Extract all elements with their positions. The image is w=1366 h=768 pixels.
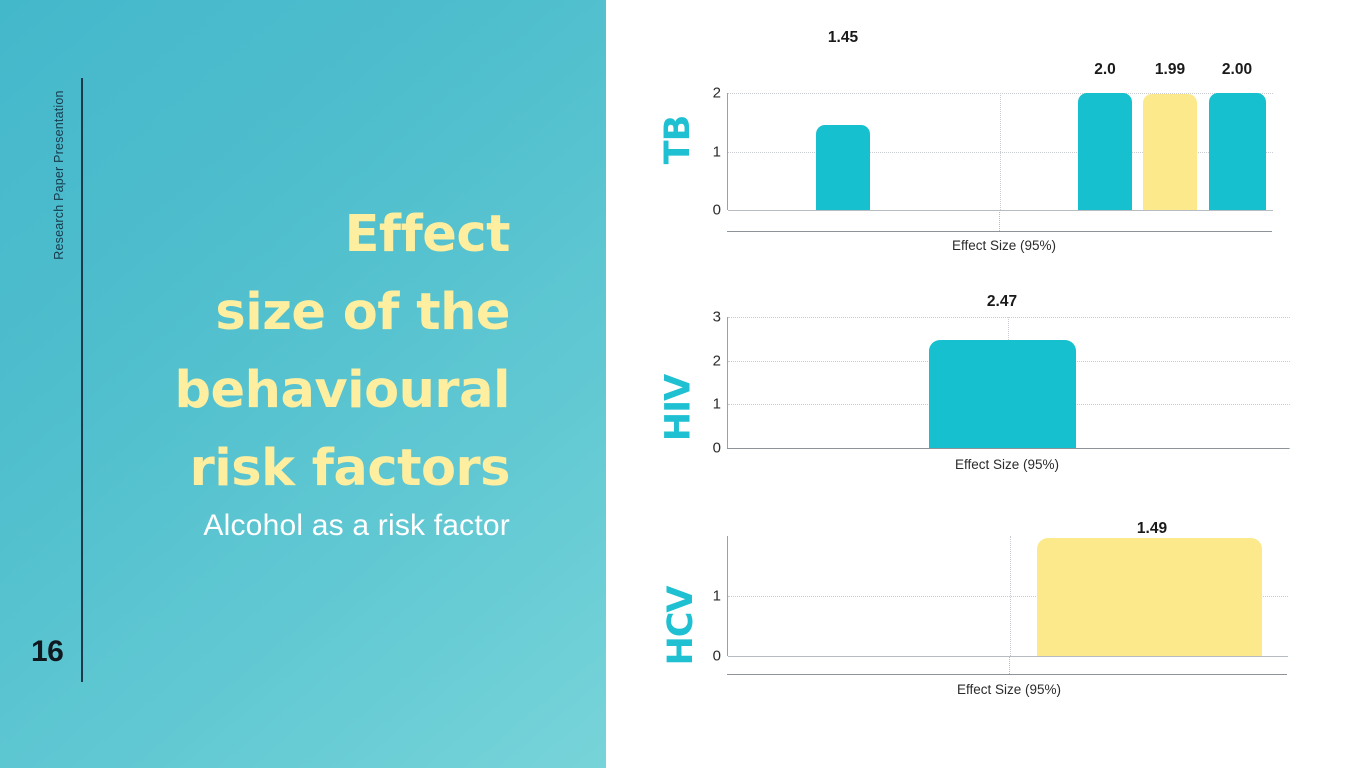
chart-hiv-ytick-0: 0 [713,440,721,457]
chart-hcv-x-axis-line [727,674,1287,675]
chart-tb-bar-label-4: 2.00 [1222,61,1252,79]
chart-hcv-ytick-0: 0 [713,648,721,665]
chart-hcv-y-axis-title: HCV [661,576,701,676]
chart-hiv: HIV 0 1 2 3 2.47 Effect Size (95%) [606,296,1366,486]
chart-tb-bar-label-3: 1.99 [1155,61,1185,79]
title-line-2: size of the [80,274,510,352]
chart-tb-bar-3 [1143,94,1197,210]
title-panel: Research Paper Presentation Effect size … [0,0,606,768]
chart-hiv-ytick-1: 1 [713,396,721,413]
chart-tb-ytick-1: 1 [713,143,721,160]
title-line-3: behavioural [80,352,510,430]
chart-hcv-vertical-gridline [1010,536,1011,656]
chart-hcv-x-axis-label: Effect Size (95%) [957,682,1061,697]
chart-hcv-bar-1 [1037,538,1262,656]
chart-tb-bar-label-2: 2.0 [1094,61,1116,79]
chart-hiv-gridline-3 [728,317,1290,318]
chart-hiv-ytick-2: 2 [713,352,721,369]
chart-tb-x-axis-tick [999,210,1000,231]
chart-hcv-plot-area: 0 1 1.49 [727,536,1288,656]
chart-hiv-y-axis-title: HIV [659,361,699,456]
chart-tb: TB 0 1 2 1.45 2.0 1.99 2.00 Effect Size … [606,0,1366,260]
chart-hiv-x-axis-line [727,448,1289,449]
chart-hcv-ytick-1: 1 [713,588,721,605]
chart-tb-x-axis-line [727,231,1272,232]
chart-hiv-bar-label-1: 2.47 [987,293,1017,311]
chart-tb-x-axis-label: Effect Size (95%) [952,238,1056,253]
chart-hiv-plot-area: 0 1 2 3 2.47 [727,317,1290,448]
title-line-4: risk factors [80,430,510,508]
chart-tb-bar-4 [1209,93,1266,210]
chart-tb-y-axis-title: TB [658,100,698,180]
chart-hcv-x-axis-tick [1009,656,1010,674]
page-subtitle: Alcohol as a risk factor [80,509,510,543]
side-label: Research Paper Presentation [52,85,66,265]
chart-tb-bar-2 [1078,93,1132,210]
chart-hcv: HCV 0 1 1.49 Effect Size (95%) [606,518,1366,708]
chart-tb-gridline-0 [728,210,1273,211]
chart-tb-vertical-gridline [1000,93,1001,210]
chart-tb-bar-label-1: 1.45 [828,29,858,47]
chart-hiv-bar-1 [929,340,1076,448]
chart-hiv-ytick-3: 3 [713,309,721,326]
chart-tb-ytick-2: 2 [713,85,721,102]
chart-tb-bar-1 [816,125,870,210]
chart-hcv-bar-label-1: 1.49 [1137,520,1167,538]
charts-region: TB 0 1 2 1.45 2.0 1.99 2.00 Effect Size … [606,0,1366,768]
page-number: 16 [31,635,63,669]
chart-tb-plot-area: 0 1 2 1.45 2.0 1.99 2.00 [727,93,1273,210]
title-line-1: Effect [80,196,510,274]
chart-tb-ytick-0: 0 [713,202,721,219]
page-title: Effect size of the behavioural risk fact… [80,196,510,508]
chart-hcv-gridline-0 [728,656,1288,657]
chart-hiv-x-axis-label: Effect Size (95%) [955,457,1059,472]
